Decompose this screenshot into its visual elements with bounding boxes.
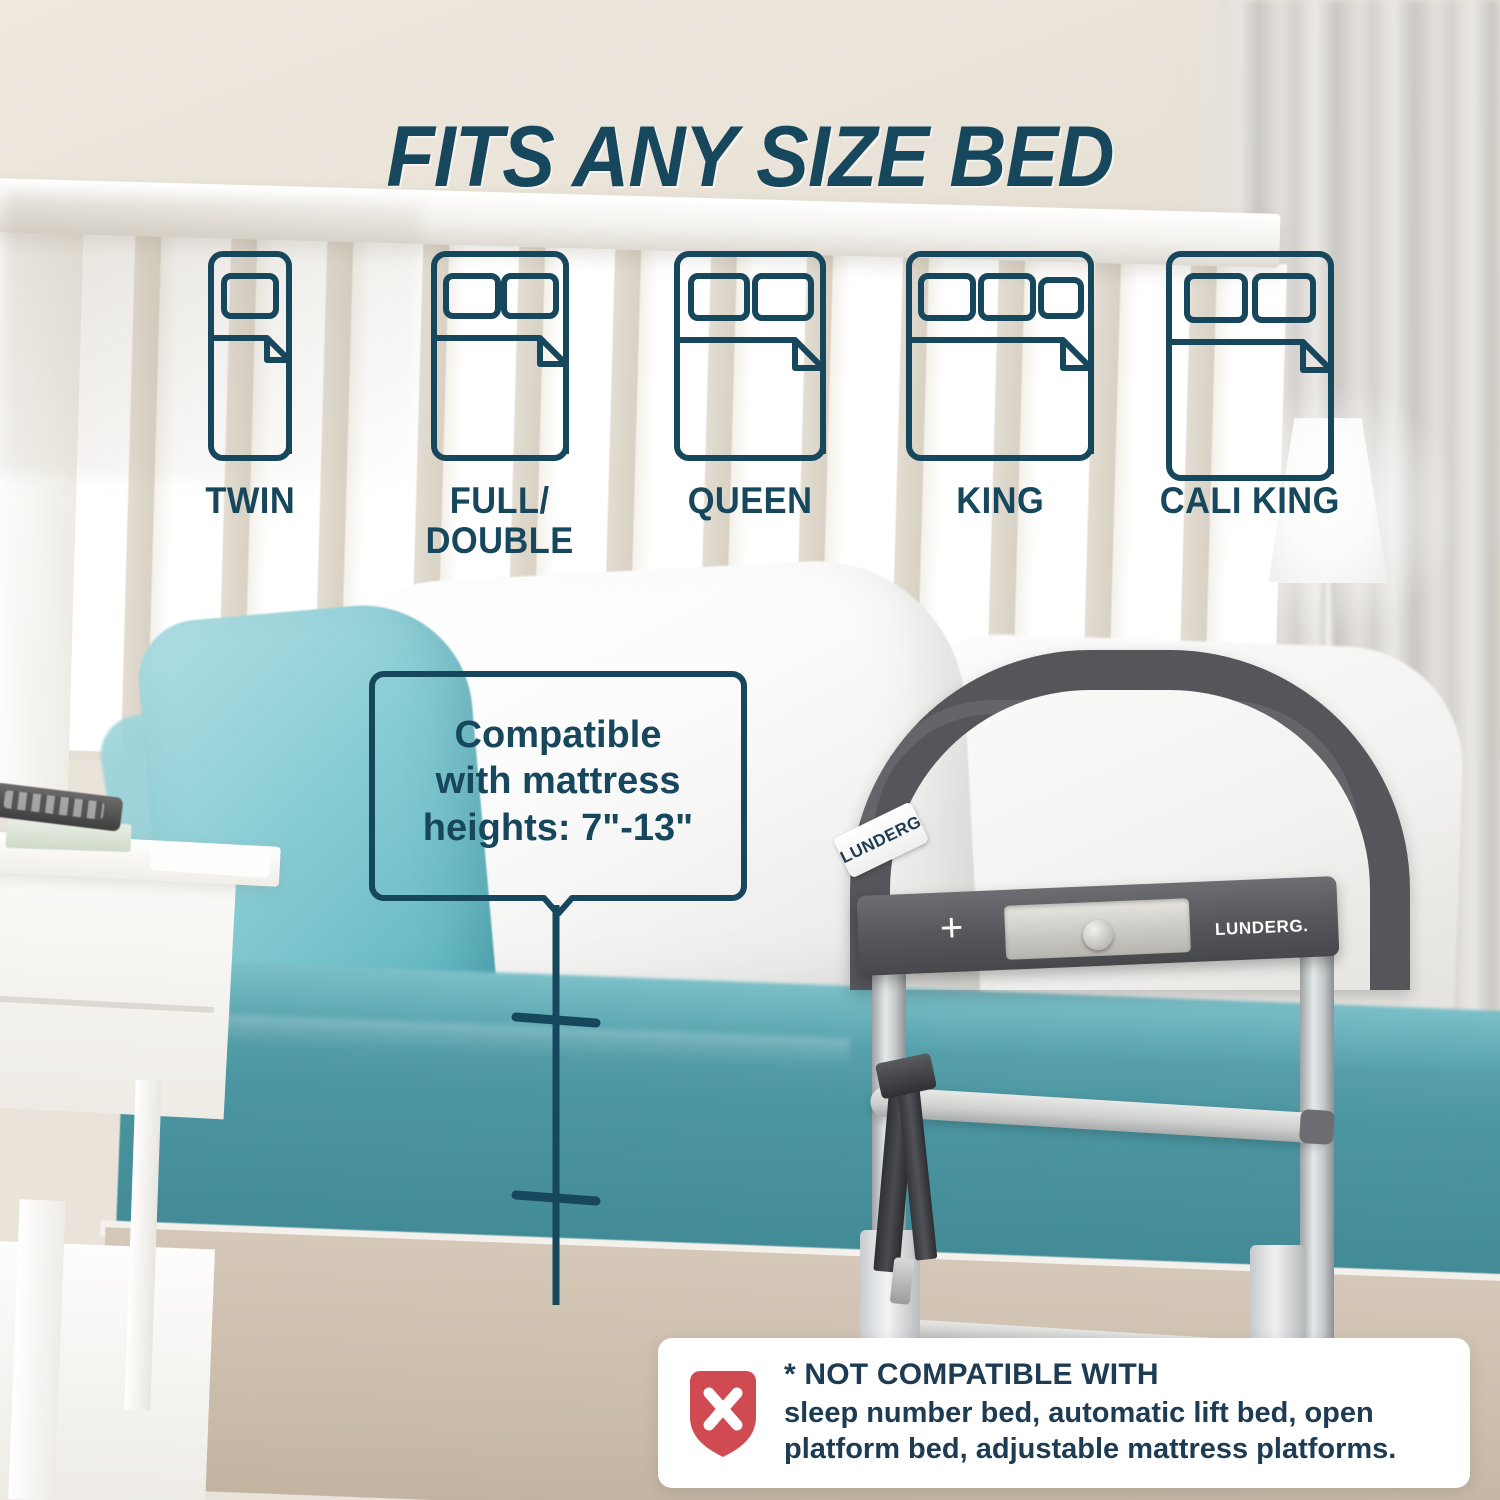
rail-right-foot bbox=[1250, 1245, 1306, 1340]
bed-size-item-queen: QUEEN bbox=[625, 250, 875, 521]
callout-text: Compatible with mattress heights: 7"-13" bbox=[366, 712, 750, 851]
callout-line-3: heights: 7"-13" bbox=[366, 805, 750, 851]
shield-x-icon bbox=[684, 1367, 762, 1459]
bed-size-item-cali-king: CALI KING bbox=[1125, 250, 1375, 521]
callout-line-1: Compatible bbox=[366, 712, 750, 758]
notice-line-2: platform bed, adjustable mattress platfo… bbox=[784, 1432, 1396, 1468]
bed-size-label-full: FULL/DOUBLE bbox=[426, 481, 574, 561]
bar-brand-label: LUNDERG. bbox=[1215, 916, 1309, 940]
bed-size-label-king: KING bbox=[956, 481, 1044, 521]
bed-size-label-twin: TWIN bbox=[205, 481, 295, 521]
notice-text-block: * NOT COMPATIBLE WITH sleep number bed, … bbox=[784, 1358, 1396, 1468]
bed-size-full-icon bbox=[430, 250, 570, 465]
bed-size-item-full: FULL/DOUBLE bbox=[375, 250, 625, 561]
bed-size-queen-icon bbox=[673, 250, 827, 465]
bed-size-item-twin: TWIN bbox=[125, 250, 375, 521]
bed-size-label-cali-king: CALI KING bbox=[1160, 481, 1340, 521]
bed-size-twin-icon bbox=[207, 250, 293, 465]
mattress-height-measure-line bbox=[476, 905, 656, 1325]
compatibility-notice: * NOT COMPATIBLE WITH sleep number bed, … bbox=[658, 1338, 1470, 1488]
bed-size-king-icon bbox=[905, 250, 1095, 465]
rail-crossbar-upper bbox=[870, 1086, 1331, 1144]
notice-line-1: sleep number bed, automatic lift bed, op… bbox=[784, 1396, 1396, 1432]
page-title: FITS ANY SIZE BED bbox=[60, 108, 1440, 207]
rail-crossbar-cap bbox=[1299, 1109, 1335, 1145]
mattress-height-callout: Compatible with mattress heights: 7"-13" bbox=[366, 668, 750, 916]
plus-icon: + bbox=[939, 908, 964, 949]
bed-size-cali-king-icon bbox=[1165, 250, 1335, 465]
bed-size-label-queen: QUEEN bbox=[688, 481, 813, 521]
bed-size-row: TWIN FULL/DOUBLE bbox=[0, 250, 1500, 561]
bed-size-item-king: KING bbox=[875, 250, 1125, 521]
notice-heading: * NOT COMPATIBLE WITH bbox=[784, 1358, 1396, 1392]
bed-assist-rail-product: LUNDERG + LUNDERG. bbox=[820, 640, 1420, 1360]
callout-line-2: with mattress bbox=[366, 758, 750, 804]
adjustment-knob bbox=[1083, 920, 1113, 950]
infographic-canvas: LUNDERG + LUNDERG. FITS ANY SIZE BED bbox=[0, 0, 1500, 1500]
nightstand-body bbox=[0, 865, 236, 1120]
